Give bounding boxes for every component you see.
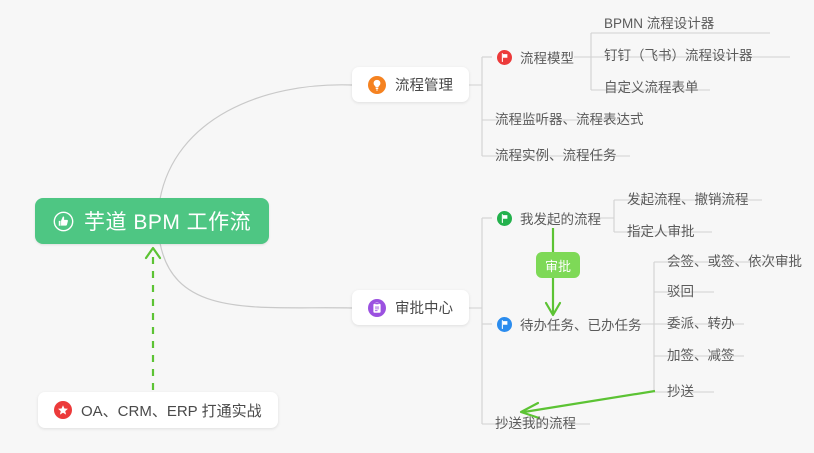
node-cc-to-me-process[interactable]: 抄送我的流程 (491, 409, 580, 435)
root-node[interactable]: 芋道 BPM 工作流 (35, 198, 269, 244)
branch-node-approval-center[interactable]: 审批中心 (352, 290, 469, 325)
node-cc[interactable]: 抄送 (663, 377, 698, 403)
node-process-listener-expression[interactable]: 流程监听器、流程表达式 (491, 105, 648, 131)
node-label: BPMN 流程设计器 (604, 12, 714, 32)
node-bpmn-designer[interactable]: BPMN 流程设计器 (600, 9, 718, 35)
mindmap-canvas: 芋道 BPM 工作流 流程管理 流程模型 BPMN 流程设计器 钉钉（飞书）流 (0, 0, 814, 453)
node-start-cancel-process[interactable]: 发起流程、撤销流程 (623, 185, 753, 211)
node-label: 自定义流程表单 (604, 76, 699, 96)
flag-icon (497, 50, 512, 65)
node-label: 会签、或签、依次审批 (667, 250, 802, 270)
node-label: 流程监听器、流程表达式 (495, 108, 644, 128)
node-label: 加签、减签 (667, 344, 735, 364)
node-label: 我发起的流程 (520, 208, 601, 228)
branch-node-process-management[interactable]: 流程管理 (352, 67, 469, 102)
node-label: 钉钉（飞书）流程设计器 (604, 44, 753, 64)
node-label: 抄送 (667, 380, 694, 400)
node-label: 委派、转办 (667, 312, 735, 332)
root-label: 芋道 BPM 工作流 (84, 206, 251, 236)
flag-icon (497, 211, 512, 226)
node-dingtalk-feishu-designer[interactable]: 钉钉（飞书）流程设计器 (600, 41, 757, 67)
callout-arrow (146, 248, 160, 390)
node-assigned-approver[interactable]: 指定人审批 (623, 217, 699, 243)
node-label: 流程模型 (520, 47, 574, 67)
integration-callout[interactable]: OA、CRM、ERP 打通实战 (38, 392, 278, 428)
node-label: 发起流程、撤销流程 (627, 188, 749, 208)
node-process-model[interactable]: 流程模型 (493, 44, 578, 70)
lightbulb-icon (368, 76, 386, 94)
clipboard-icon (368, 299, 386, 317)
node-custom-process-form[interactable]: 自定义流程表单 (600, 73, 703, 99)
node-label: 抄送我的流程 (495, 412, 576, 432)
node-label: 驳回 (667, 280, 694, 300)
integration-callout-label: OA、CRM、ERP 打通实战 (81, 400, 262, 421)
node-label: 待办任务、已办任务 (520, 314, 642, 334)
approval-badge-label: 审批 (545, 256, 571, 275)
node-countersign-or-sequential[interactable]: 会签、或签、依次审批 (663, 247, 806, 273)
node-delegate-transfer[interactable]: 委派、转办 (663, 309, 739, 335)
node-label: 流程实例、流程任务 (495, 144, 617, 164)
node-reject[interactable]: 驳回 (663, 277, 698, 303)
thumbs-up-icon (53, 211, 74, 232)
node-todo-done-tasks[interactable]: 待办任务、已办任务 (493, 311, 646, 337)
node-add-remove-sign[interactable]: 加签、减签 (663, 341, 739, 367)
node-process-instance-task[interactable]: 流程实例、流程任务 (491, 141, 621, 167)
branch-label: 审批中心 (395, 297, 453, 318)
node-label: 指定人审批 (627, 220, 695, 240)
node-my-initiated-process[interactable]: 我发起的流程 (493, 205, 605, 231)
approval-badge[interactable]: 审批 (536, 252, 580, 278)
star-icon (54, 401, 72, 419)
branch-label: 流程管理 (395, 74, 453, 95)
flag-icon (497, 317, 512, 332)
